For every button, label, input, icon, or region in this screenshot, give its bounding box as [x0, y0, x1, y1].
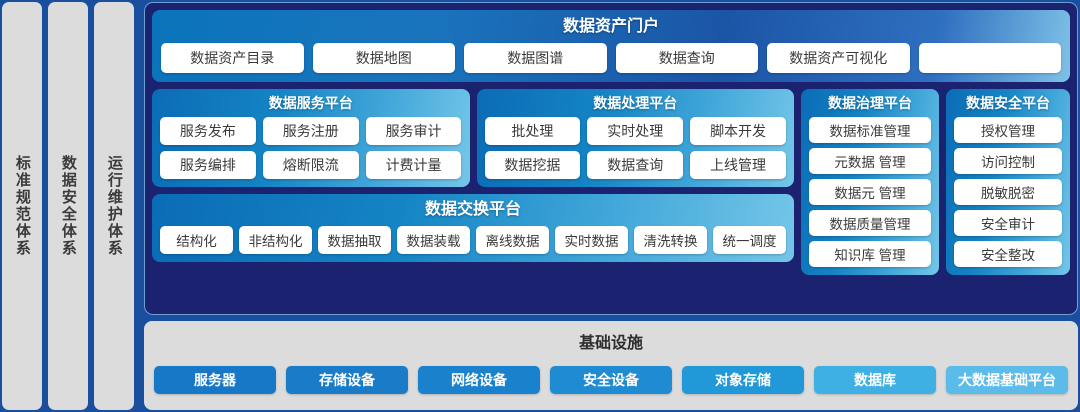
portal-item[interactable]: 数据图谱: [464, 43, 607, 73]
sidebar-item-label: 标准规范体系: [14, 155, 30, 257]
exchange-platform-item[interactable]: 统一调度: [713, 226, 786, 254]
exchange-platform-item[interactable]: 离线数据: [476, 226, 549, 254]
infrastructure-item[interactable]: 存储设备: [286, 366, 408, 394]
platforms-left-group: 数据服务平台 服务发布 服务注册 服务审计 服务编排 熔断限流: [152, 89, 794, 275]
data-security-platform-section: 数据安全平台 授权管理 访问控制 脱敏脱密 安全审计 安全整改: [946, 89, 1070, 275]
processing-platform-item[interactable]: 批处理: [485, 117, 581, 145]
sidebar-item-label: 数据安全体系: [60, 155, 76, 257]
infrastructure-item[interactable]: 服务器: [154, 366, 276, 394]
security-platform-item[interactable]: 脱敏脱密: [954, 179, 1062, 205]
portal-item-empty[interactable]: [919, 43, 1062, 73]
portal-items-row: 数据资产目录 数据地图 数据图谱 数据查询 数据资产可视化: [161, 43, 1061, 73]
service-platform-item[interactable]: 服务编排: [160, 151, 256, 179]
sidebar-item-label: 运行维护体系: [106, 155, 122, 257]
service-platform-grid: 服务发布 服务注册 服务审计 服务编排 熔断限流 计费计量: [160, 117, 462, 179]
infrastructure-section: 基础设施 服务器 存储设备 网络设备 安全设备 对象存储 数据库 大数据基础平台: [144, 321, 1078, 410]
governance-platform-item[interactable]: 数据标准管理: [809, 117, 931, 143]
exchange-platform-item[interactable]: 数据装载: [397, 226, 470, 254]
security-platform-item[interactable]: 安全整改: [954, 241, 1062, 267]
service-platform-item[interactable]: 服务审计: [366, 117, 462, 145]
processing-platform-item[interactable]: 实时处理: [587, 117, 683, 145]
infrastructure-title: 基础设施: [154, 329, 1068, 353]
processing-platform-item[interactable]: 数据查询: [587, 151, 683, 179]
governance-platform-list: 数据标准管理 元数据 管理 数据元 管理 数据质量管理 知识库 管理: [809, 117, 931, 267]
infrastructure-row: 服务器 存储设备 网络设备 安全设备 对象存储 数据库 大数据基础平台: [154, 360, 1068, 400]
processing-platform-grid: 批处理 实时处理 脚本开发 数据挖据 数据查询 上线管理: [485, 117, 787, 179]
security-platform-item[interactable]: 安全审计: [954, 210, 1062, 236]
security-platform-item[interactable]: 访问控制: [954, 148, 1062, 174]
governance-platform-item[interactable]: 元数据 管理: [809, 148, 931, 174]
main-content: 数据资产门户 数据资产目录 数据地图 数据图谱 数据查询 数据资产可视化: [140, 0, 1080, 412]
infrastructure-item[interactable]: 网络设备: [418, 366, 540, 394]
service-and-processing-row: 数据服务平台 服务发布 服务注册 服务审计 服务编排 熔断限流: [152, 89, 794, 187]
exchange-platform-row: 结构化 非结构化 数据抽取 数据装载 离线数据 实时数据 清洗转换 统一调度: [160, 226, 786, 254]
service-platform-item[interactable]: 服务注册: [263, 117, 359, 145]
governance-platform-title: 数据治理平台: [809, 95, 931, 112]
exchange-platform-item[interactable]: 结构化: [160, 226, 233, 254]
security-platform-title: 数据安全平台: [954, 95, 1062, 112]
service-platform-item[interactable]: 计费计量: [366, 151, 462, 179]
data-exchange-platform-section: 数据交换平台 结构化 非结构化 数据抽取 数据装载 离线数据 实时数据 清洗转换…: [152, 194, 794, 262]
portal-item[interactable]: 数据资产目录: [161, 43, 304, 73]
sidebar-item-operations-maintenance-system[interactable]: 运行维护体系: [94, 2, 134, 410]
service-platform-item[interactable]: 熔断限流: [263, 151, 359, 179]
processing-platform-item[interactable]: 上线管理: [690, 151, 786, 179]
processing-platform-row: 批处理 实时处理 脚本开发: [485, 117, 787, 145]
infrastructure-item[interactable]: 安全设备: [550, 366, 672, 394]
sidebar-item-data-security-system[interactable]: 数据安全体系: [48, 2, 88, 410]
portal-item[interactable]: 数据查询: [616, 43, 759, 73]
exchange-platform-item[interactable]: 实时数据: [555, 226, 628, 254]
security-platform-item[interactable]: 授权管理: [954, 117, 1062, 143]
processing-platform-item[interactable]: 脚本开发: [690, 117, 786, 145]
processing-platform-item[interactable]: 数据挖据: [485, 151, 581, 179]
portal-title: 数据资产门户: [161, 17, 1061, 37]
portal-item[interactable]: 数据地图: [313, 43, 456, 73]
sidebar-columns: 标准规范体系 数据安全体系 运行维护体系: [0, 0, 140, 412]
governance-platform-item[interactable]: 知识库 管理: [809, 241, 931, 267]
exchange-platform-item[interactable]: 清洗转换: [634, 226, 707, 254]
exchange-platform-item[interactable]: 非结构化: [239, 226, 312, 254]
portal-item[interactable]: 数据资产可视化: [767, 43, 910, 73]
data-service-platform-section: 数据服务平台 服务发布 服务注册 服务审计 服务编排 熔断限流: [152, 89, 470, 187]
service-platform-item[interactable]: 服务发布: [160, 117, 256, 145]
processing-platform-row: 数据挖据 数据查询 上线管理: [485, 151, 787, 179]
service-platform-row: 服务编排 熔断限流 计费计量: [160, 151, 462, 179]
platforms-band: 数据服务平台 服务发布 服务注册 服务审计 服务编排 熔断限流: [152, 89, 1070, 275]
data-asset-portal-section: 数据资产门户 数据资产目录 数据地图 数据图谱 数据查询 数据资产可视化: [152, 10, 1070, 82]
governance-platform-item[interactable]: 数据元 管理: [809, 179, 931, 205]
security-platform-list: 授权管理 访问控制 脱敏脱密 安全审计 安全整改: [954, 117, 1062, 267]
governance-platform-item[interactable]: 数据质量管理: [809, 210, 931, 236]
service-platform-row: 服务发布 服务注册 服务审计: [160, 117, 462, 145]
service-platform-title: 数据服务平台: [160, 95, 462, 112]
architecture-diagram: 标准规范体系 数据安全体系 运行维护体系 数据资产门户 数据资产目录 数据地图 …: [0, 0, 1080, 412]
platform-stack-panel: 数据资产门户 数据资产目录 数据地图 数据图谱 数据查询 数据资产可视化: [144, 2, 1078, 315]
data-governance-platform-section: 数据治理平台 数据标准管理 元数据 管理 数据元 管理 数据质量管理 知识库 管…: [801, 89, 939, 275]
exchange-platform-title: 数据交换平台: [160, 200, 786, 220]
data-processing-platform-section: 数据处理平台 批处理 实时处理 脚本开发 数据挖据 数据查询: [477, 89, 795, 187]
infrastructure-item[interactable]: 对象存储: [682, 366, 804, 394]
infrastructure-item[interactable]: 数据库: [814, 366, 936, 394]
infrastructure-item[interactable]: 大数据基础平台: [946, 366, 1068, 394]
processing-platform-title: 数据处理平台: [485, 95, 787, 112]
sidebar-item-standards-system[interactable]: 标准规范体系: [2, 2, 42, 410]
exchange-platform-item[interactable]: 数据抽取: [318, 226, 391, 254]
